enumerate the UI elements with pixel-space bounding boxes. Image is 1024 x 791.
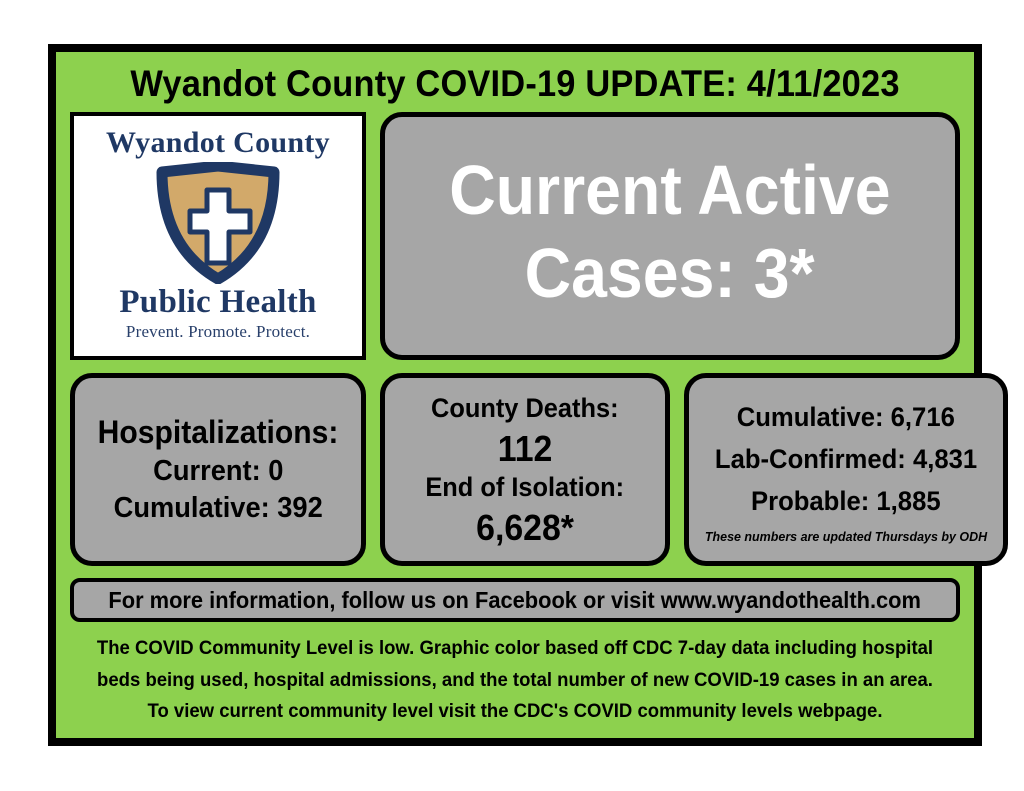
community-level-line-2: beds being used, hospital admissions, an… <box>92 665 938 697</box>
active-cases-panel: Current Active Cases: 3* <box>380 112 960 361</box>
stats-row: Hospitalizations: Current: 0 Cumulative:… <box>70 373 960 566</box>
end-of-isolation-value: 6,628* <box>476 506 574 549</box>
agency-logo-card: Wyandot County Public Health Prevent. Pr… <box>70 112 366 361</box>
hospitalizations-heading: Hospitalizations: <box>98 412 339 453</box>
more-information-text: For more information, follow us on Faceb… <box>109 587 922 614</box>
hospitalizations-panel: Hospitalizations: Current: 0 Cumulative:… <box>70 373 366 566</box>
lab-confirmed-cases: Lab-Confirmed: 4,831 <box>715 445 977 475</box>
top-row: Wyandot County Public Health Prevent. Pr… <box>70 112 960 361</box>
end-of-isolation-heading: End of Isolation: <box>426 470 625 506</box>
hospitalizations-current: Current: 0 <box>153 453 283 491</box>
active-cases-line-1: Current Active <box>449 149 890 232</box>
active-cases-line-2: Cases: 3* <box>525 232 815 315</box>
more-information-bar[interactable]: For more information, follow us on Faceb… <box>70 578 960 622</box>
poster-frame: Wyandot County COVID-19 UPDATE: 4/11/202… <box>48 44 982 746</box>
counts-footnote: These numbers are updated Thursdays by O… <box>705 530 987 544</box>
county-deaths-value: 112 <box>498 427 553 470</box>
shield-with-cross-icon <box>154 162 282 284</box>
page-title: Wyandot County COVID-19 UPDATE: 4/11/202… <box>101 62 929 106</box>
logo-public-health-text: Public Health <box>119 286 316 320</box>
hospitalizations-cumulative: Cumulative: 392 <box>113 490 322 528</box>
logo-tagline: Prevent. Promote. Protect. <box>126 322 310 342</box>
cumulative-cases: Cumulative: 6,716 <box>737 403 955 433</box>
poster-body: Wyandot County COVID-19 UPDATE: 4/11/202… <box>56 52 974 738</box>
community-level-line-3: To view current community level visit th… <box>92 696 938 728</box>
county-deaths-heading: County Deaths: <box>431 391 619 427</box>
case-counts-panel: Cumulative: 6,716 Lab-Confirmed: 4,831 P… <box>684 373 1008 566</box>
logo-county-text: Wyandot County <box>106 128 330 158</box>
county-deaths-panel: County Deaths: 112 End of Isolation: 6,6… <box>380 373 670 566</box>
community-level-line-1: The COVID Community Level is low. Graphi… <box>92 633 938 665</box>
community-level-note: The COVID Community Level is low. Graphi… <box>70 633 960 728</box>
probable-cases: Probable: 1,885 <box>751 487 941 517</box>
